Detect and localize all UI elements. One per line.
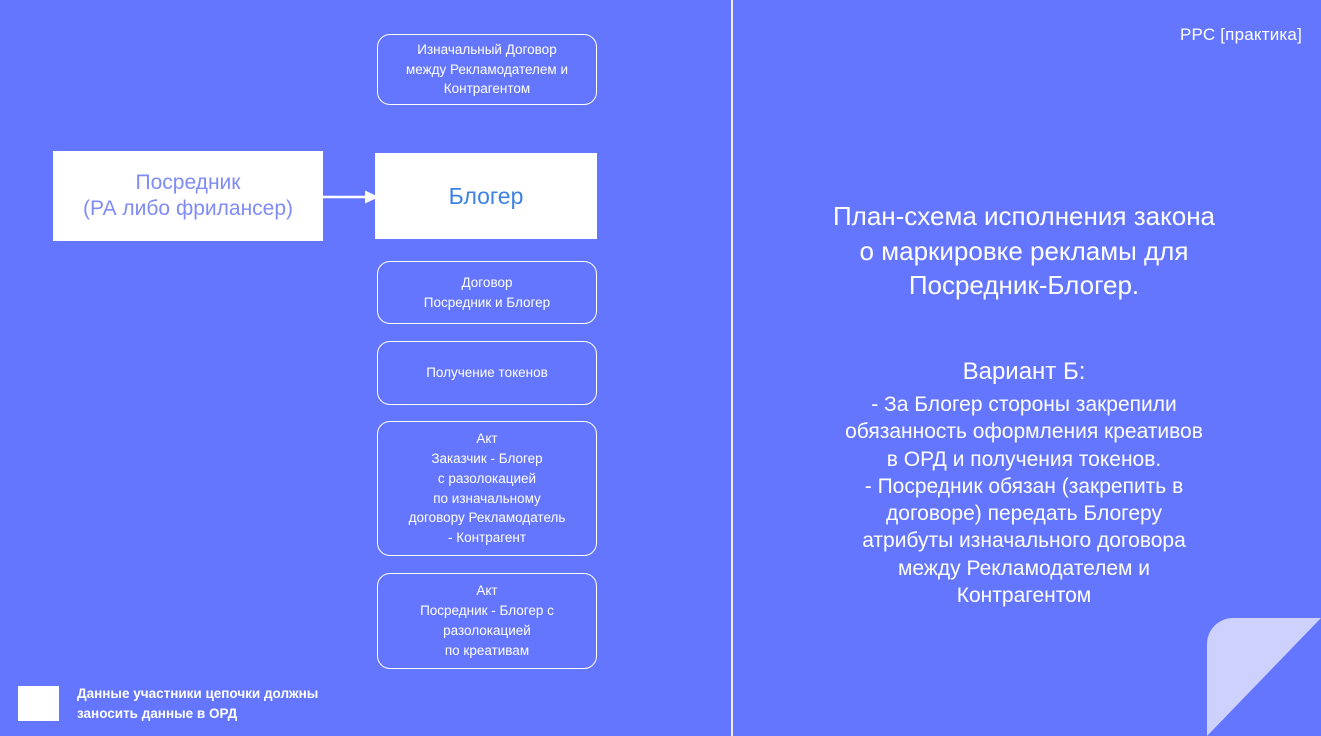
flow-box-blogger-label: Блогер [449, 182, 524, 210]
flow-box-act-intermediary-blogger: АктПосредник - Блогер сразолокациейпо кр… [377, 573, 597, 669]
panel-variant-heading: Вариант Б: [772, 356, 1276, 387]
flow-box-contract-intermediary-blogger-label: ДоговорПосредник и Блогер [424, 273, 550, 313]
presentation-slide: Изначальный Договормежду Рекламодателем … [0, 0, 1321, 736]
flow-box-tokens: Получение токенов [377, 341, 597, 405]
vertical-divider [731, 0, 733, 736]
arrow-intermediary-to-blogger [323, 190, 379, 204]
flow-box-tokens-label: Получение токенов [426, 363, 548, 383]
flow-box-act-intermediary-blogger-label: АктПосредник - Блогер сразолокациейпо кр… [420, 581, 554, 660]
flow-box-initial-contract-label: Изначальный Договормежду Рекламодателем … [406, 40, 568, 100]
flow-box-intermediary: Посредник(РА либо фрилансер) [53, 151, 323, 241]
legend-label: Данные участники цепочки должнызаносить … [77, 684, 318, 723]
flow-box-blogger: Блогер [375, 153, 597, 239]
legend: Данные участники цепочки должнызаносить … [18, 684, 318, 723]
flow-box-act-customer-blogger-label: АктЗаказчик - Блогерс разолокациейпо изн… [409, 429, 566, 548]
flow-box-intermediary-label: Посредник(РА либо фрилансер) [83, 170, 293, 221]
decorative-corner-shape [1207, 618, 1321, 736]
flow-box-contract-intermediary-blogger: ДоговорПосредник и Блогер [377, 261, 597, 324]
panel-tag: РРС [практика] [1180, 25, 1302, 45]
flow-box-act-customer-blogger: АктЗаказчик - Блогерс разолокациейпо изн… [377, 421, 597, 556]
flow-box-initial-contract: Изначальный Договормежду Рекламодателем … [377, 34, 597, 105]
panel-body-text: - За Блогер стороны закрепилиобязанность… [772, 391, 1276, 609]
legend-color-swatch [18, 686, 59, 721]
panel-title: План-схема исполнения законао маркировке… [772, 199, 1276, 303]
